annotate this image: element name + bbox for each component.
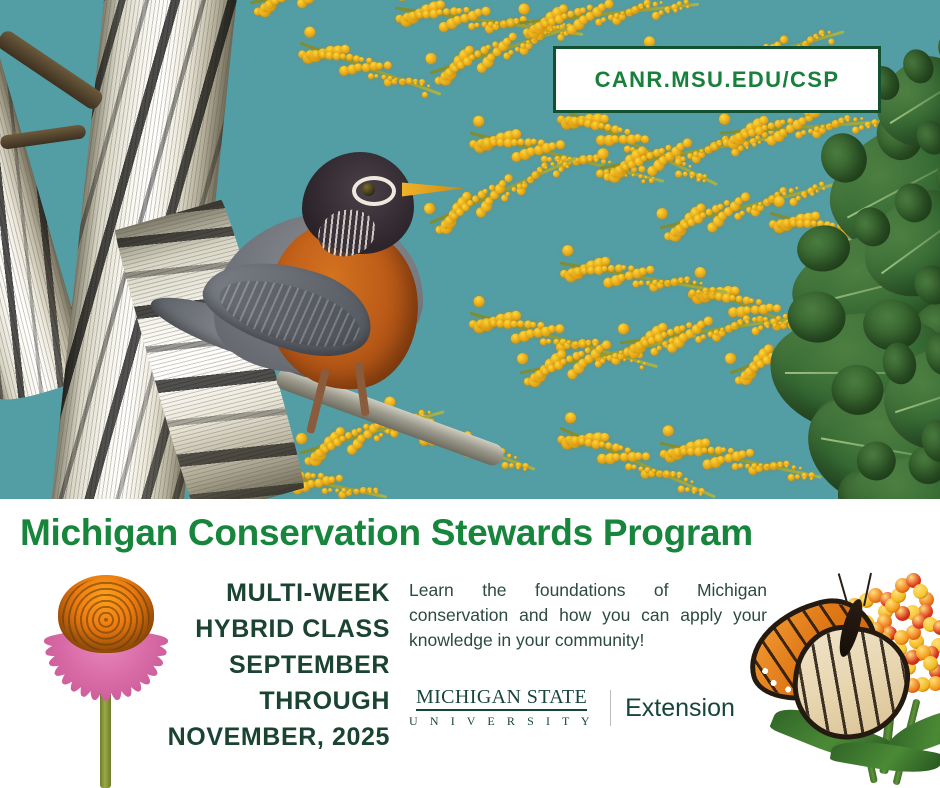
oak-leaf [843, 452, 940, 499]
msu-wordmark-top: MICHIGAN STATE [416, 687, 587, 711]
robin-eye [362, 183, 375, 196]
milkweed-floret [894, 630, 909, 645]
purple-coneflower [30, 565, 180, 788]
coneflower-cone [58, 575, 154, 653]
monarch-butterfly-on-milkweed [735, 568, 940, 788]
program-description: Learn the foundations of Michigan conser… [409, 578, 767, 653]
logo-divider-rule [610, 690, 611, 726]
american-robin [150, 118, 450, 458]
msu-extension-logo[interactable]: MICHIGAN STATE U N I V E R S I T Y Exten… [409, 688, 735, 728]
poster-canvas: CANR.MSU.EDU/CSP Michigan Conservation S… [0, 0, 940, 788]
milkweed-floret [913, 584, 928, 599]
program-title: Michigan Conservation Stewards Program [20, 512, 753, 554]
msu-unit-label: Extension [625, 694, 735, 723]
milkweed-floret [933, 620, 940, 635]
url-badge[interactable]: CANR.MSU.EDU/CSP [553, 46, 881, 113]
msu-wordmark-bottom: U N I V E R S I T Y [409, 711, 594, 729]
hero-photo: CANR.MSU.EDU/CSP [0, 0, 940, 499]
milkweed-floret [923, 656, 938, 671]
url-badge-text: CANR.MSU.EDU/CSP [595, 67, 840, 93]
msu-wordmark: MICHIGAN STATE U N I V E R S I T Y [409, 687, 594, 729]
